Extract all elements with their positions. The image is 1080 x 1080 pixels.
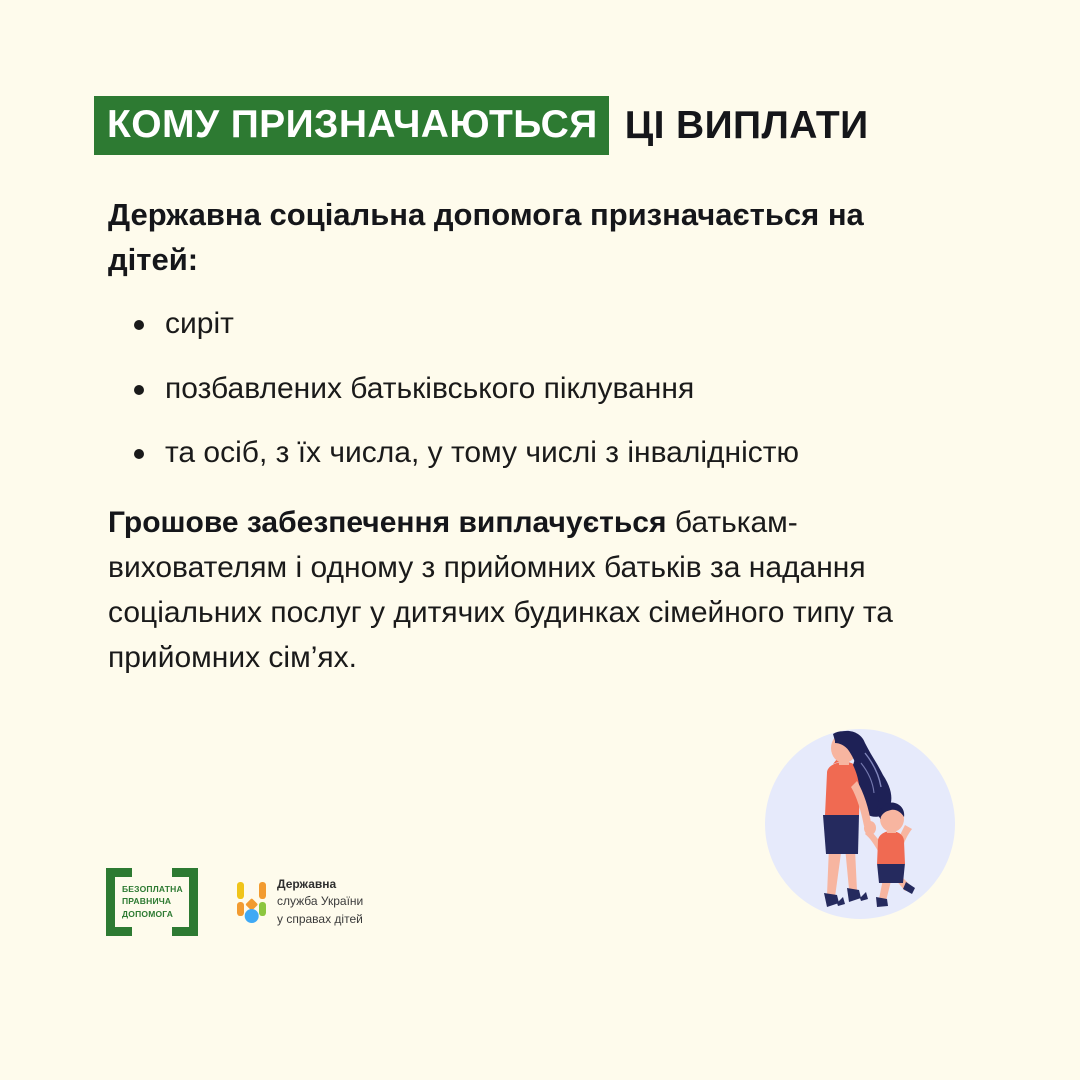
state-service-logo: Державна служба України у справах дітей [236,876,363,927]
list-item: та осіб, з їх числа, у тому числі з інва… [134,434,964,472]
state-service-logo-text: Державна служба України у справах дітей [277,876,363,927]
title-remainder: ЦІ ВИПЛАТИ [609,106,869,145]
free-legal-aid-line-2: ПРАВНИЧА [122,895,184,907]
free-legal-aid-logo-text: БЕЗОПЛАТНА ПРАВНИЧА ДОПОМОГА [122,883,184,920]
list-item-label: сиріт [165,305,964,343]
bullet-list: сиріт позбавлених батьківського піклуван… [134,305,964,472]
lead-paragraph: Державна соціальна допомога призначаєтьс… [108,193,938,282]
list-item: сиріт [134,305,964,343]
mother-and-child-illustration [765,729,955,919]
list-item-label: та осіб, з їх числа, у тому числі з інва… [165,434,964,472]
infographic-page: КОМУ ПРИЗНАЧАЮТЬСЯ ЦІ ВИПЛАТИ Державна с… [0,0,1080,1080]
state-service-line-2: служба України [277,893,363,910]
bullet-dot-icon [134,449,144,459]
bullet-dot-icon [134,385,144,395]
free-legal-aid-line-1: БЕЗОПЛАТНА [122,883,184,895]
bullet-dot-icon [134,320,144,330]
state-service-mark-icon [236,880,268,924]
body-paragraph: Грошове забезпечення виплачується батька… [108,500,948,680]
state-service-line-1: Державна [277,876,363,893]
free-legal-aid-logo: БЕЗОПЛАТНА ПРАВНИЧА ДОПОМОГА [106,868,198,936]
body-paragraph-bold: Грошове забезпечення виплачується [108,506,666,539]
title-highlight: КОМУ ПРИЗНАЧАЮТЬСЯ [94,96,609,155]
state-service-line-3: у справах дітей [277,911,363,928]
list-item-label: позбавлених батьківського піклування [165,370,964,408]
list-item: позбавлених батьківського піклування [134,370,964,408]
page-title: КОМУ ПРИЗНАЧАЮТЬСЯ ЦІ ВИПЛАТИ [94,96,869,155]
logo-bar: БЕЗОПЛАТНА ПРАВНИЧА ДОПОМОГА Державна [106,868,363,936]
free-legal-aid-line-3: ДОПОМОГА [122,908,184,920]
